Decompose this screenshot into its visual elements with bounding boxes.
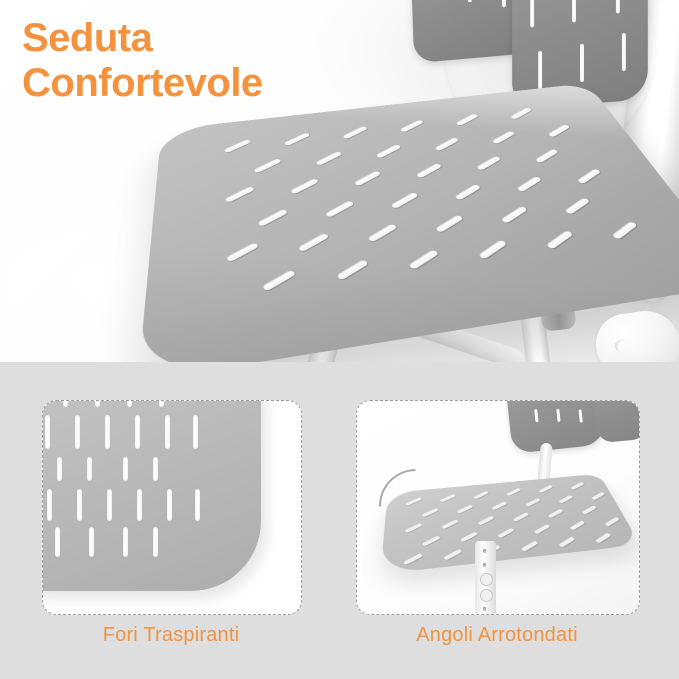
leg-adjust-knob <box>480 589 493 602</box>
seat-slot <box>535 149 560 164</box>
mini-seat-slot <box>477 516 494 525</box>
macro-slot <box>167 489 172 521</box>
seat-slot <box>375 144 402 158</box>
knob-notch <box>613 338 636 356</box>
macro-slot <box>153 457 158 481</box>
macro-slot <box>45 415 50 449</box>
seat-slot <box>476 156 502 171</box>
macro-slot <box>105 415 110 449</box>
seat-slot <box>435 214 464 232</box>
macro-slot <box>57 457 62 481</box>
backrest-slot <box>530 0 534 27</box>
seat-slot <box>290 178 320 194</box>
macro-slot <box>193 415 198 449</box>
seat-slot <box>415 163 442 178</box>
mini-seat-slot <box>421 508 438 517</box>
backrest-slot <box>572 0 576 23</box>
mini-seat-slot <box>443 549 462 560</box>
seat-slot <box>315 151 343 166</box>
leg-adjust-knob <box>480 573 493 586</box>
seat-slot <box>516 176 542 192</box>
mini-seat-slot <box>521 541 538 552</box>
macro-slot <box>47 489 52 521</box>
seat-slot <box>253 158 282 173</box>
mini-seat-slot <box>405 497 422 505</box>
seat-slot <box>224 186 255 203</box>
hero-photo: Seduta Confortevole <box>0 0 679 362</box>
mini-backrest-panel <box>506 400 608 454</box>
leg-adjust-hole <box>483 549 486 553</box>
mini-seat-slot <box>403 553 423 565</box>
mini-seat-slot <box>570 482 584 490</box>
seat-slot <box>478 240 508 260</box>
headline-line-1: Seduta <box>22 16 263 61</box>
leg-adjust-hole <box>483 607 486 611</box>
mini-seat-slot <box>457 505 474 514</box>
macro-slot <box>107 489 112 521</box>
caption-fori-traspiranti: Fori Traspiranti <box>42 624 300 647</box>
mini-seat-slot <box>497 528 514 538</box>
mini-seat-slot <box>422 536 441 547</box>
detail-box-fori-traspiranti <box>42 400 302 615</box>
mini-backrest-slot <box>578 409 582 422</box>
macro-slot <box>95 400 100 407</box>
mini-seat-slot <box>548 509 564 518</box>
seat-slot <box>257 209 289 227</box>
mini-seat-slot <box>404 523 422 533</box>
seat-slot <box>225 242 259 262</box>
macro-slot <box>89 527 94 557</box>
mini-backrest-slot <box>556 409 560 422</box>
mini-backrest-slot <box>534 409 538 422</box>
mini-seat-slot <box>473 491 489 499</box>
mini-seat-slot <box>534 524 550 534</box>
mini-seat-slot <box>440 494 456 502</box>
mini-seat-slot <box>558 495 573 503</box>
mini-seat-slot <box>604 517 619 527</box>
macro-slot <box>87 457 92 481</box>
mini-seat-slot <box>558 537 575 548</box>
seat-slot <box>546 230 574 249</box>
macro-slot <box>123 457 128 481</box>
macro-slot <box>63 400 68 407</box>
backrest-slot <box>501 0 506 7</box>
mini-chair-leg <box>475 541 496 615</box>
mini-seat-slot <box>506 488 521 496</box>
seat-slot <box>577 168 602 184</box>
macro-slot <box>153 527 158 557</box>
mini-seat-slot <box>538 485 553 493</box>
seat-slot <box>297 233 329 252</box>
macro-slot <box>159 400 164 407</box>
seat-slot <box>408 249 439 270</box>
macro-perforated-panel <box>42 400 261 591</box>
mini-seat-slot <box>525 498 540 507</box>
mini-backrest-panel-2 <box>592 400 640 443</box>
seat-slot <box>454 184 481 201</box>
macro-slot <box>75 415 80 449</box>
mini-seat-slot <box>491 501 507 510</box>
macro-slot <box>137 489 142 521</box>
mini-seat-slot <box>460 532 478 542</box>
seat-slot <box>491 131 515 145</box>
seat-slot <box>353 170 381 186</box>
mini-chair-photo <box>357 401 639 614</box>
seat-slot <box>434 137 459 151</box>
seat-slot <box>500 206 528 224</box>
mini-seat-slot <box>595 533 611 543</box>
mini-seat-slot <box>582 505 597 514</box>
macro-slot <box>127 400 132 407</box>
backrest-slot <box>467 0 472 2</box>
seat-surface <box>138 83 679 362</box>
seat-slot <box>367 223 398 242</box>
seat-slot <box>611 221 638 240</box>
seat-slot <box>324 200 354 217</box>
macro-slot <box>135 415 140 449</box>
leg-adjust-hole <box>483 563 486 567</box>
macro-slot <box>77 489 82 521</box>
seat-slot <box>336 259 369 280</box>
product-feature-banner: Seduta Confortevole Fori Traspiranti <box>0 0 679 679</box>
mini-seat-slot <box>591 492 605 500</box>
mini-seat-slot <box>513 512 529 521</box>
headline-line-2: Confortevole <box>22 61 263 106</box>
seat-slot <box>547 124 570 137</box>
mini-seat-slot <box>441 519 459 529</box>
caption-angoli-arrotondati: Angoli Arrotondati <box>356 624 638 647</box>
detail-section: Fori Traspiranti <box>0 362 679 679</box>
detail-box-angoli-arrotondati <box>356 400 640 615</box>
headline: Seduta Confortevole <box>22 16 263 106</box>
macro-slot <box>165 415 170 449</box>
seat-slot <box>261 270 296 292</box>
macro-slot <box>55 527 60 557</box>
mini-seat-slot <box>569 520 585 530</box>
macro-slot <box>123 527 128 557</box>
backrest-slot <box>616 0 620 13</box>
macro-slot <box>195 489 200 521</box>
seat-slot <box>564 197 590 214</box>
seat-slot <box>390 192 419 209</box>
